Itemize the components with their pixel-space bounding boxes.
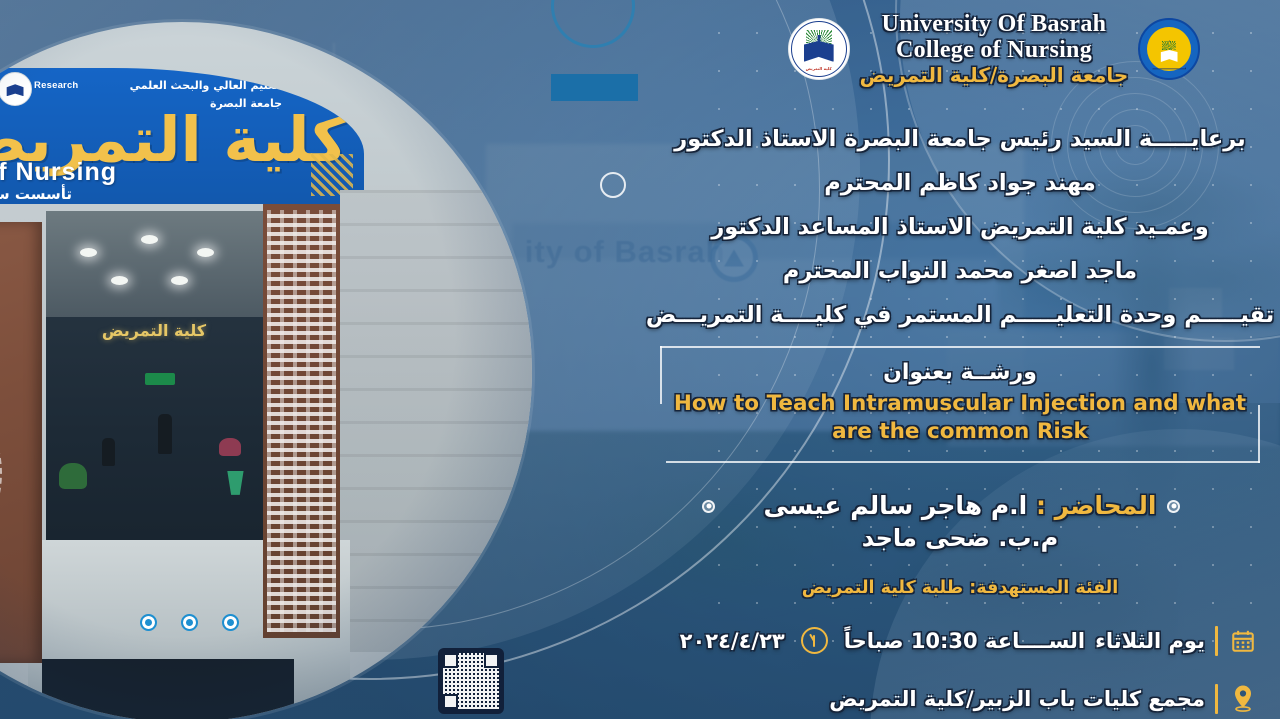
title-frame-right	[1258, 405, 1260, 463]
nursing-logo-caption: كلية التمريض	[806, 66, 832, 71]
lecturer-line-1: المحاضر : ا.م هاجر سالم عيسى	[640, 491, 1280, 520]
calendar-icon	[1228, 624, 1258, 658]
qr-code-pattern	[443, 653, 499, 709]
bullet-icon-left	[702, 500, 715, 513]
schedule-row: يوم الثلاثاء الســــاعة 10:30 صباحاً ٢٠٢…	[640, 624, 1280, 658]
photo-inner: Ministry of Higher Education and Scienti…	[0, 22, 532, 719]
workshop-title-line1: How to Teach Intramuscular Injection and…	[674, 391, 1246, 416]
lecturer-name-1: ا.م هاجر سالم عيسى	[763, 491, 1027, 520]
title-frame-bottom	[666, 461, 1260, 463]
lecturer-name-2: م.ب. ضحى ماجد	[640, 524, 1280, 552]
clock-icon	[801, 627, 828, 654]
university-of-basrah-logo	[1138, 18, 1200, 80]
location-pin-icon	[1228, 682, 1258, 716]
college-of-nursing-logo: كلية التمريض	[788, 18, 850, 80]
workshop-title-block: ورشــة بعنوان How to Teach Intramuscular…	[660, 346, 1260, 463]
patronage-line-3: وعمـيد كلية التمريض الاستاذ المساعد الدك…	[640, 214, 1280, 240]
lecturer-block: المحاضر : ا.م هاجر سالم عيسى م.ب. ضحى ما…	[640, 491, 1280, 552]
workshop-label: ورشــة بعنوان	[660, 360, 1260, 385]
uni-logo-palm-icon	[1162, 41, 1176, 50]
header-title-en-line2: College of Nursing	[860, 38, 1129, 63]
lecturer-label: المحاضر :	[1036, 491, 1157, 520]
workshop-title-english: How to Teach Intramuscular Injection and…	[660, 390, 1260, 447]
patronage-line-2: مهند جواد كاظم المحترم	[640, 170, 1280, 196]
title-frame-top	[660, 346, 1260, 348]
patronage-line-4: ماجد اصغر محمد النواب المحترم	[640, 258, 1280, 284]
schedule-day: يوم الثلاثاء	[1095, 629, 1205, 653]
patronage-line-5: تقيـــــم وحدة التعليـــــم المستمر في ك…	[640, 302, 1280, 328]
poster-header: كلية التمريض University Of Basrah Colleg…	[716, 6, 1272, 92]
location-text: مجمع كليات باب الزبير/كلية التمريض	[829, 687, 1205, 711]
workshop-title-line2: are the common Risk	[832, 419, 1088, 444]
poster-content: برعايـــــة السيد رئيس جامعة البصرة الاس…	[640, 96, 1280, 706]
target-audience: الفئة المستهدفة: طلبة كلية التمريض	[640, 578, 1280, 598]
schedule-date: ٢٠٢٤/٤/٢٣	[680, 629, 785, 653]
photo-vignette	[0, 22, 532, 719]
patronage-line-1: برعايـــــة السيد رئيس جامعة البصرة الاس…	[640, 126, 1280, 152]
schedule-time: الســــاعة 10:30 صباحاً	[844, 629, 1085, 653]
header-title-en-line1: University Of Basrah	[860, 12, 1129, 37]
title-frame-left	[660, 346, 662, 404]
college-entrance-photo: Ministry of Higher Education and Scienti…	[0, 22, 532, 719]
qr-code[interactable]	[438, 648, 504, 714]
patronage-block: برعايـــــة السيد رئيس جامعة البصرة الاس…	[640, 126, 1280, 328]
schedule-divider	[1215, 626, 1218, 656]
location-divider	[1215, 684, 1218, 714]
bullet-icon-right	[1167, 500, 1180, 513]
header-title-arabic: جامعة البصرة/كلية التمريض	[860, 65, 1129, 86]
location-row: مجمع كليات باب الزبير/كلية التمريض	[640, 682, 1280, 716]
poster-root: ity of Basrah	[0, 0, 1280, 719]
header-title-group: University Of Basrah College of Nursing …	[860, 12, 1129, 85]
